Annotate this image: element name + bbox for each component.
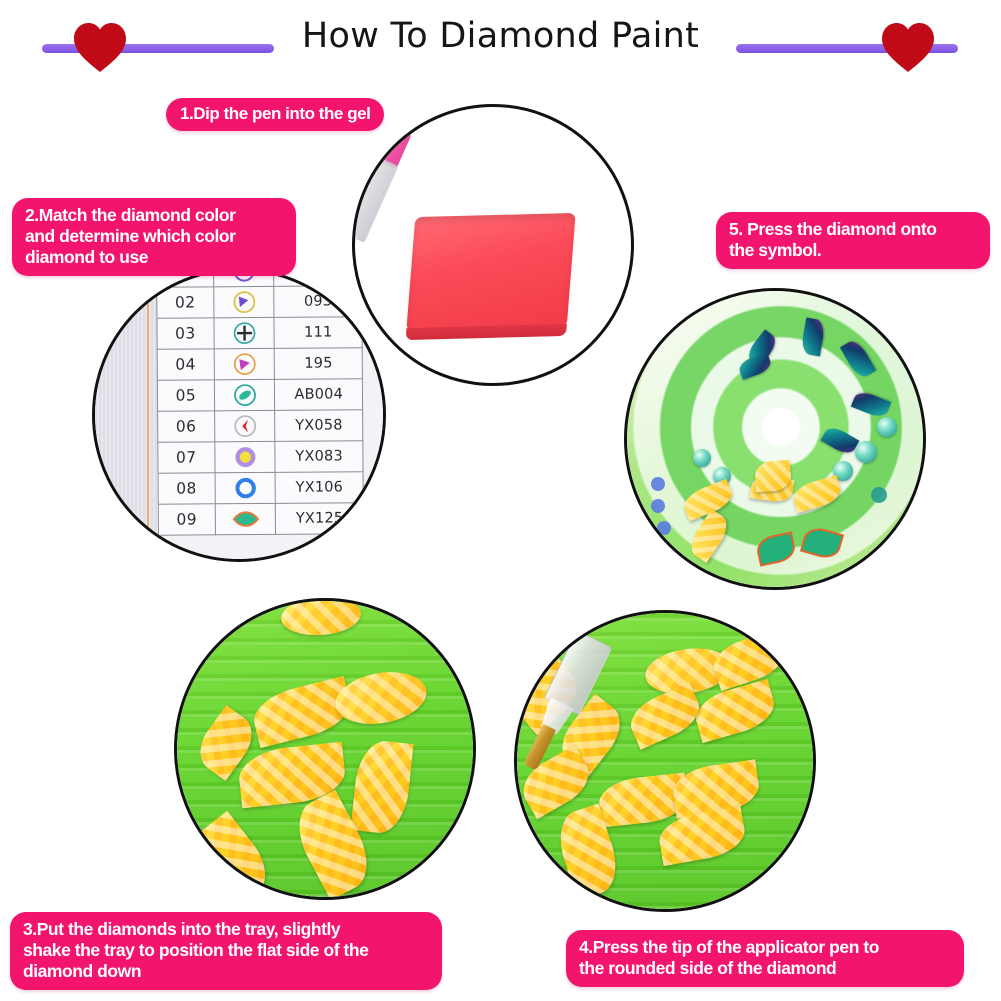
canvas-symbol-dot xyxy=(657,521,671,535)
legend-code: YX125 xyxy=(276,503,364,535)
legend-no: 03 xyxy=(157,318,214,349)
step-4-photo-panel xyxy=(514,610,816,912)
legend-code: AB004 xyxy=(275,379,363,411)
page-title: How To Diamond Paint xyxy=(0,16,1001,56)
placing-diamond-on-canvas-photo xyxy=(627,291,923,587)
page-header: How To Diamond Paint xyxy=(0,0,1001,88)
table-row: 08 YX106 xyxy=(158,472,363,504)
orange-guide-line xyxy=(147,271,149,559)
legend-no: 08 xyxy=(158,473,215,504)
legend-no: 02 xyxy=(157,287,214,318)
legend-code: 111 xyxy=(274,317,362,349)
pen-dipping-in-gel-photo xyxy=(355,107,631,383)
legend-code: YX106 xyxy=(275,472,363,504)
pen-barrel xyxy=(355,148,399,243)
table-row: 07 YX083 xyxy=(158,441,363,473)
magenta-triangle-symbol xyxy=(214,348,275,379)
diamonds-in-green-tray-photo xyxy=(177,601,473,897)
canvas-symbol-dot xyxy=(871,487,887,503)
table-row: 03 111 xyxy=(157,317,362,349)
blue-ring-symbol xyxy=(215,472,276,503)
canvas-symbol-dot xyxy=(651,477,665,491)
legend-no: 05 xyxy=(157,380,214,411)
teal-leaf-symbol xyxy=(215,503,276,534)
legend-code: 093 xyxy=(274,286,362,318)
round-diamond xyxy=(855,441,877,463)
teal-plus-symbol xyxy=(214,317,275,348)
legend-no: 09 xyxy=(158,504,215,535)
pen-picking-diamond-photo xyxy=(517,613,813,909)
color-legend-chart-photo: 020 02 093 03 111 04 19 xyxy=(95,271,383,559)
step-5-label: 5. Press the diamond onto the symbol. xyxy=(716,212,990,269)
step-1-label: 1.Dip the pen into the gel xyxy=(166,98,384,131)
step-3-label: 3.Put the diamonds into the tray, slight… xyxy=(10,912,442,990)
step-5-photo-panel xyxy=(624,288,926,590)
purple-triangle-symbol xyxy=(213,286,274,317)
legend-code: 195 xyxy=(275,348,363,380)
round-diamond xyxy=(693,449,711,467)
gel-pad xyxy=(406,213,575,331)
legend-code: YX083 xyxy=(275,441,363,473)
yellow-dot-circle-symbol xyxy=(214,441,275,472)
step-2-photo-panel: 020 02 093 03 111 04 19 xyxy=(92,268,386,562)
legend-code: YX058 xyxy=(275,410,363,442)
legend-no: 06 xyxy=(158,411,215,442)
table-row: 02 093 xyxy=(157,286,362,318)
table-row: 09 YX125 xyxy=(158,503,363,535)
round-diamond xyxy=(877,417,897,437)
legend-no: 07 xyxy=(158,442,215,473)
red-chevron-symbol xyxy=(214,410,275,441)
step-4-label: 4.Press the tip of the applicator pen to… xyxy=(566,930,964,987)
table-row: 06 YX058 xyxy=(158,410,363,442)
table-row: 05 AB004 xyxy=(157,379,362,411)
step-3-photo-panel xyxy=(174,598,476,900)
canvas-symbol-dot xyxy=(651,499,665,513)
legend-no: 04 xyxy=(157,349,214,380)
step-2-label: 2.Match the diamond color and determine … xyxy=(12,198,296,276)
step-1-photo-panel xyxy=(352,104,634,386)
legend-table: 020 02 093 03 111 04 19 xyxy=(156,271,364,536)
table-row: 04 195 xyxy=(157,348,362,380)
teal-oval-symbol xyxy=(214,379,275,410)
